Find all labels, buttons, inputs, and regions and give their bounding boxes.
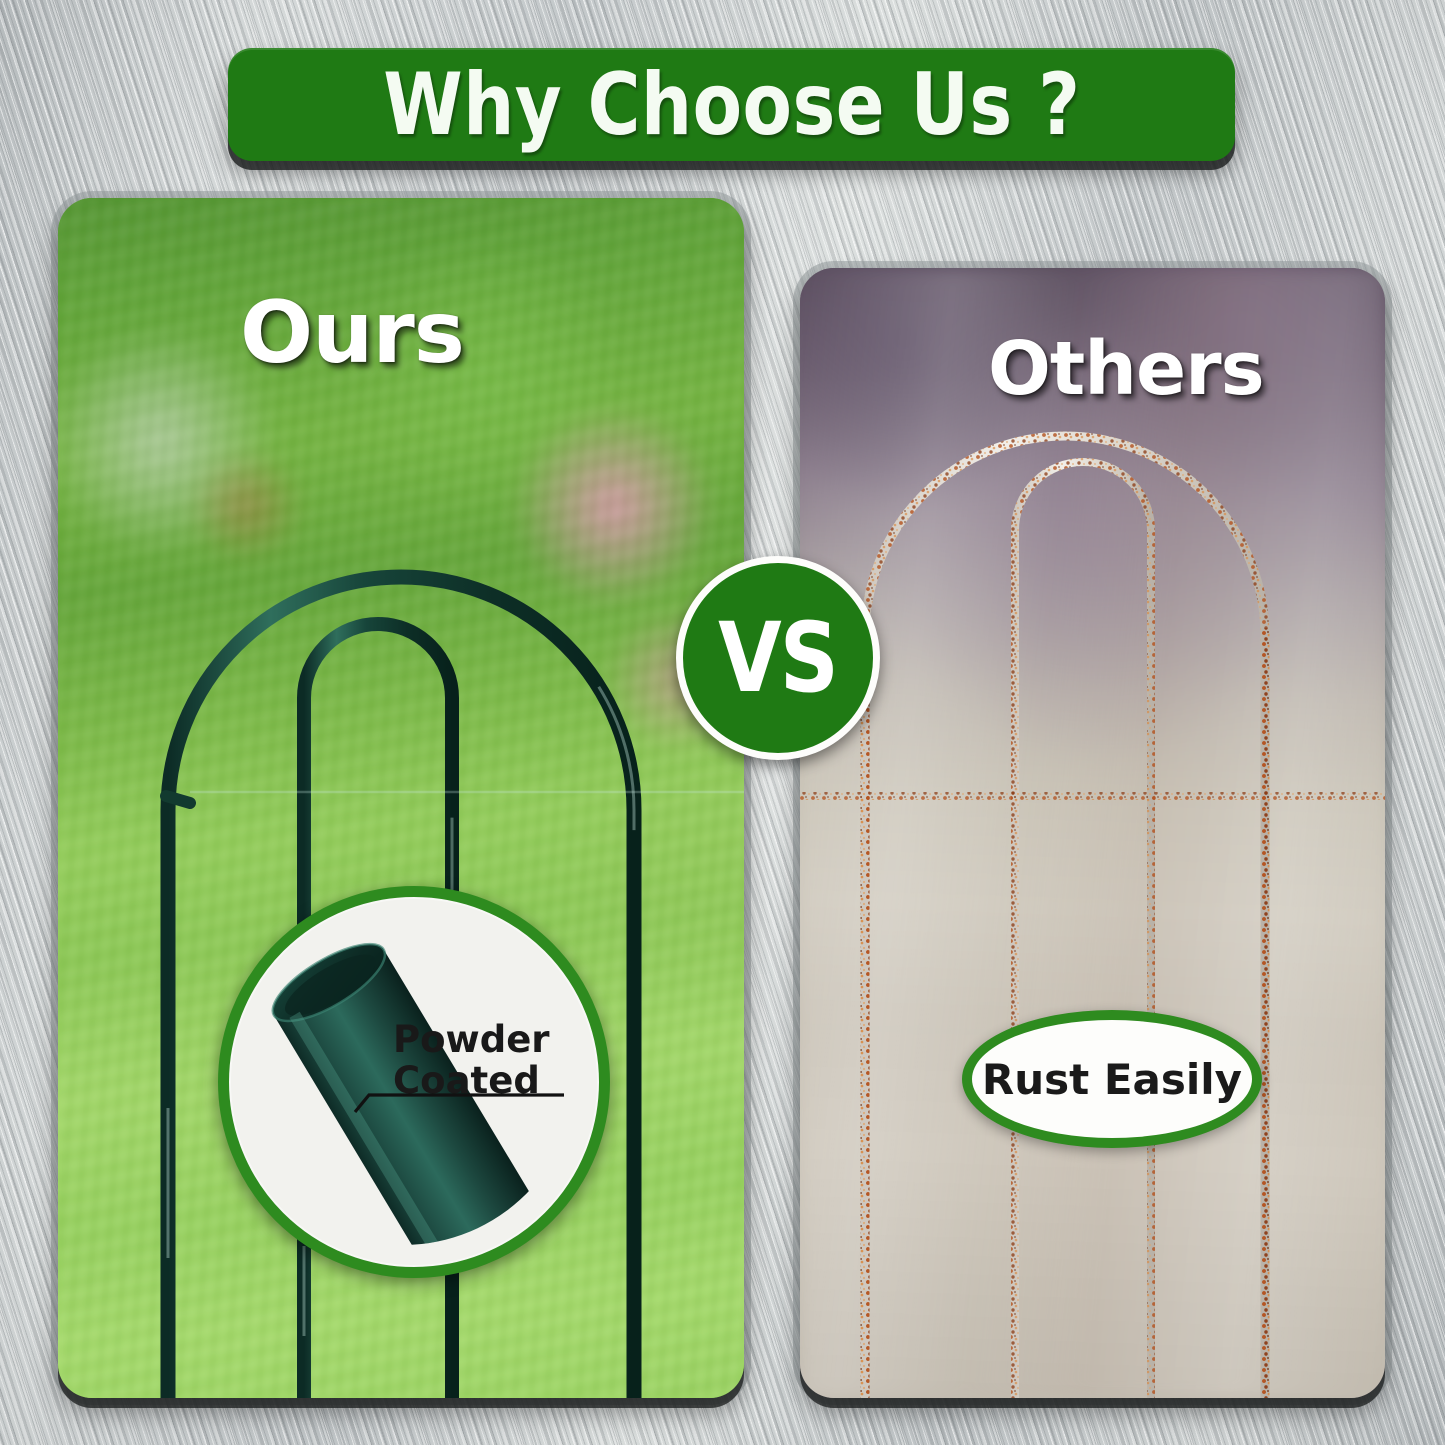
page-title: Why Choose Us ? xyxy=(383,55,1080,155)
panel-label-ours: Ours xyxy=(240,283,464,383)
vs-divider-badge: VS xyxy=(676,556,880,760)
rust-easily-label: Rust Easily xyxy=(982,1055,1242,1104)
comparison-panel-others xyxy=(800,268,1385,1398)
rust-easily-badge: Rust Easily xyxy=(962,1010,1262,1148)
title-banner: Why Choose Us ? xyxy=(228,48,1235,161)
vs-label: VS xyxy=(719,602,838,714)
panel-label-others: Others xyxy=(988,326,1264,412)
callout-leader-line xyxy=(229,897,577,1245)
powder-coated-callout: Powder Coated xyxy=(218,886,610,1278)
rusty-fence-graphic xyxy=(800,268,1385,1398)
